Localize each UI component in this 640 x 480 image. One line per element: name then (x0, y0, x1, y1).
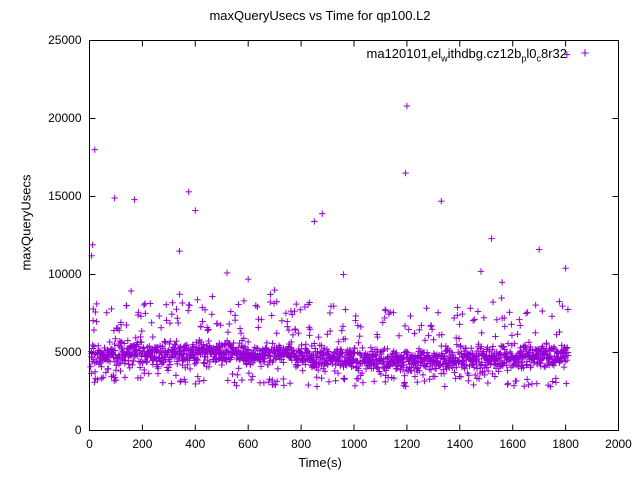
y-tick-label: 20000 (22, 111, 82, 125)
x-tick-label: 200 (112, 437, 172, 451)
data-point-group (87, 51, 571, 389)
x-tick-label: 800 (271, 437, 331, 451)
axis-frame (90, 41, 619, 431)
x-tick-label: 1200 (377, 437, 437, 451)
x-tick-label: 0 (60, 437, 120, 451)
y-tick-label: 25000 (22, 33, 82, 47)
x-tick-label: 1400 (430, 437, 490, 451)
x-tick-label: 1600 (483, 437, 543, 451)
y-tick-label: 5000 (22, 345, 82, 359)
y-tick-label: 10000 (22, 267, 82, 281)
y-tick-label: 15000 (22, 189, 82, 203)
chart-canvas: maxQueryUsecs vs Time for qp100.L2 ma120… (0, 0, 640, 480)
plot-area (0, 0, 640, 480)
x-tick-label: 400 (165, 437, 225, 451)
y-tick-label: 0 (22, 423, 82, 437)
x-tick-label: 2000 (589, 437, 640, 451)
tick-marks (90, 41, 619, 431)
x-tick-label: 600 (218, 437, 278, 451)
x-tick-label: 1000 (324, 437, 384, 451)
x-tick-label: 1800 (536, 437, 596, 451)
